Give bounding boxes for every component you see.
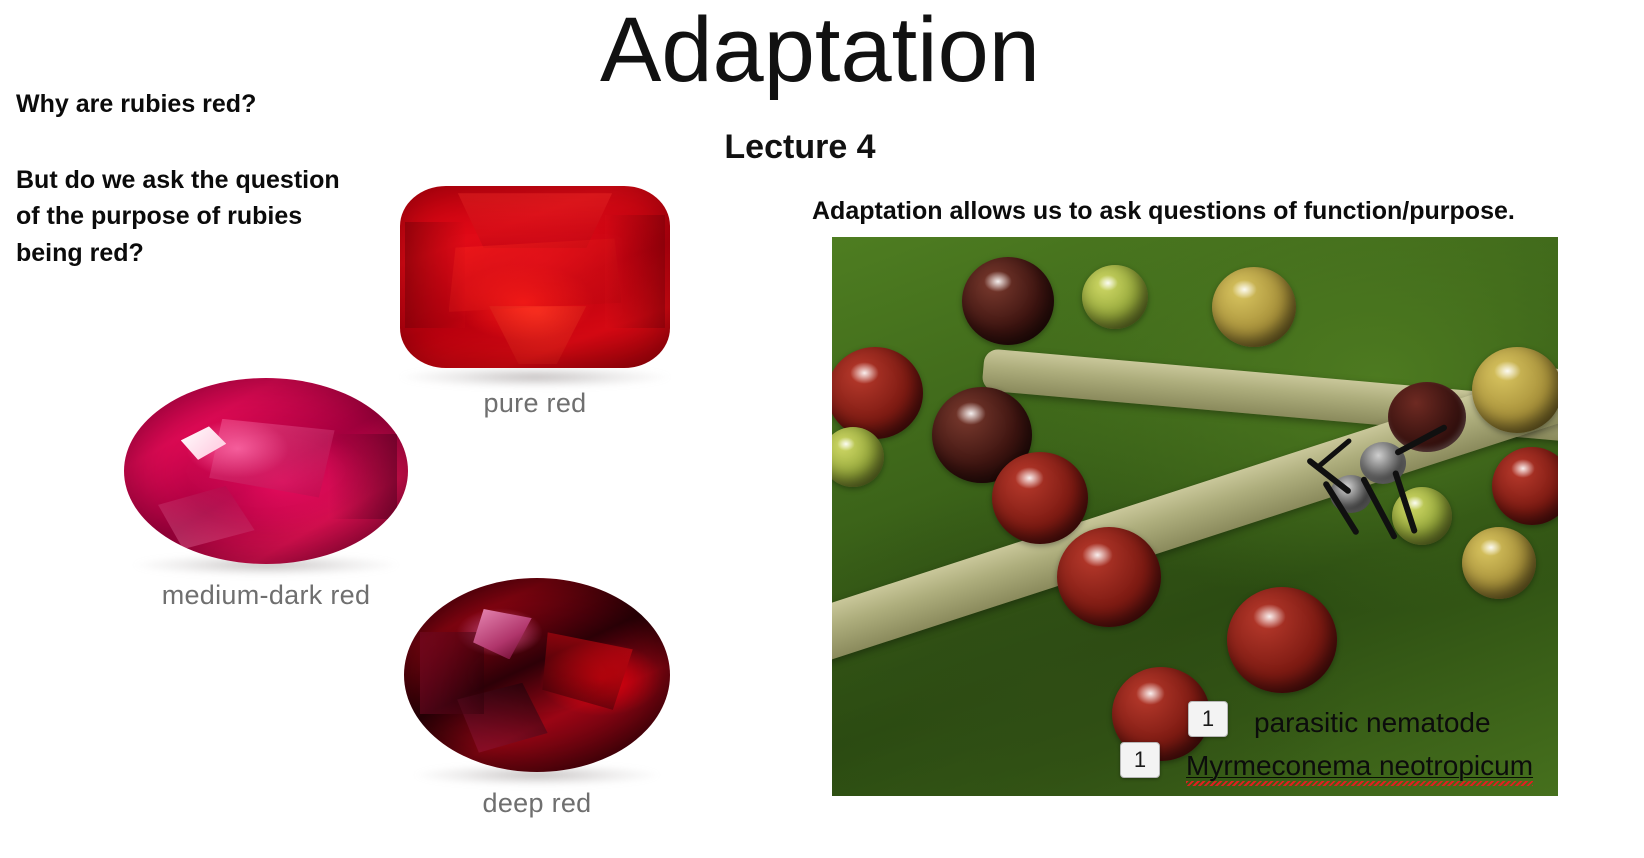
berry xyxy=(1212,267,1296,347)
ruby-deep-oval-cut xyxy=(404,578,670,772)
berry xyxy=(832,347,923,439)
berry xyxy=(1057,527,1161,627)
adaptation-caption: Adaptation allows us to ask questions of… xyxy=(812,196,1582,227)
berry xyxy=(1227,587,1337,693)
berry xyxy=(1472,347,1558,433)
ruby-cushion-cut xyxy=(400,186,670,368)
photo-label-parasitic-nematode: parasitic nematode xyxy=(1254,707,1491,739)
slide-canvas: Adaptation Lecture 4 Why are rubies red?… xyxy=(0,0,1644,858)
berry xyxy=(1082,265,1148,329)
berry xyxy=(992,452,1088,544)
gem-label-deep-red: deep red xyxy=(398,788,676,819)
gem-label-pure-red: pure red xyxy=(382,388,688,419)
berry xyxy=(1462,527,1536,599)
photo-label-species-name: Myrmeconema neotropicum xyxy=(1186,750,1533,786)
gem-image-medium-dark-red: medium-dark red xyxy=(116,372,416,572)
lecture-subtitle: Lecture 4 xyxy=(560,128,1040,167)
gem-shadow xyxy=(400,366,669,388)
callout-marker-species[interactable]: 1 xyxy=(1120,742,1160,778)
gem-image-deep-red: deep red xyxy=(398,570,676,782)
callout-marker-nematode[interactable]: 1 xyxy=(1188,701,1228,737)
left-question-secondary: But do we ask the question of the purpos… xyxy=(16,162,368,271)
ant-gaster-berry-mimic xyxy=(1388,382,1466,452)
page-title: Adaptation xyxy=(560,4,1080,96)
gem-label-medium-dark-red: medium-dark red xyxy=(116,580,416,611)
berry xyxy=(962,257,1054,345)
gem-image-pure-red: pure red xyxy=(382,172,688,384)
ruby-oval-cut xyxy=(124,378,408,564)
left-question-primary: Why are rubies red? xyxy=(16,88,376,120)
photo-label-species-wrapper: Myrmeconema neotropicum xyxy=(1186,750,1533,786)
berry xyxy=(1492,447,1558,525)
